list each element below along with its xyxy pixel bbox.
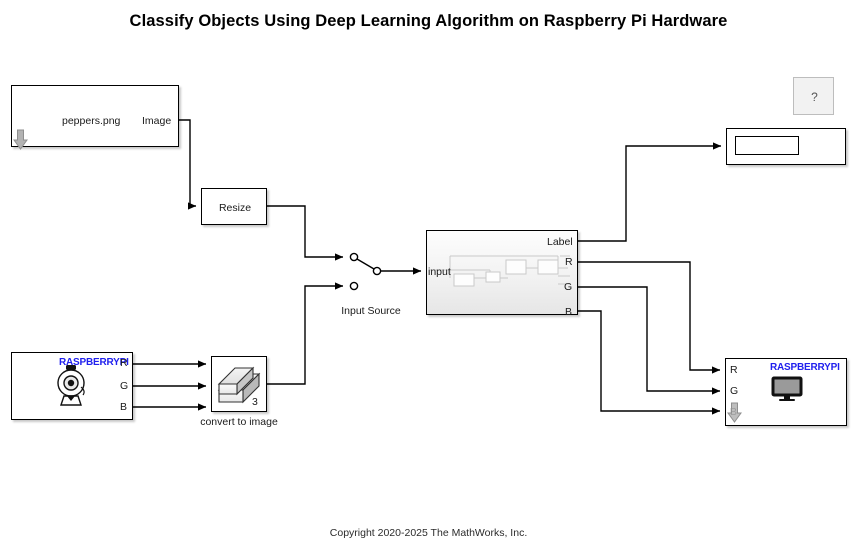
classify-output-b-port: B [565, 306, 572, 318]
resize-label: Resize [202, 189, 268, 226]
down-arrow-icon [13, 129, 28, 151]
manual-switch-icon[interactable] [350, 253, 380, 289]
classify-output-r-port: R [565, 256, 573, 268]
camera-output-b-port: B [120, 401, 127, 413]
classify-output-label-port: Label [547, 236, 573, 248]
sdl-input-r-port: R [730, 364, 738, 376]
image-source-filename-label: peppers.png [62, 115, 120, 127]
image-source-output-port-label: Image [142, 115, 171, 127]
question-mark-icon: ? [794, 78, 835, 116]
webcam-icon [48, 363, 94, 409]
classify-output-g-port: G [564, 281, 572, 293]
camera-output-r-port: R [120, 357, 128, 369]
convert-to-image-caption: convert to image [188, 416, 290, 428]
sdl-input-g-port: G [730, 385, 738, 397]
classify-input-port-label: input [428, 266, 451, 278]
input-source-caption: Input Source [330, 305, 412, 317]
sdl-hardware-label: RASPBERRYPI [770, 362, 840, 373]
page-title: Classify Objects Using Deep Learning Alg… [0, 12, 857, 31]
block-resize[interactable]: Resize [201, 188, 267, 225]
display-value-field [735, 136, 799, 155]
down-arrow-icon [727, 402, 742, 424]
convert-dimension-label: 3 [252, 396, 258, 408]
block-help[interactable]: ? [793, 77, 834, 115]
copyright-text: Copyright 2020-2025 The MathWorks, Inc. [0, 527, 857, 539]
block-display[interactable] [726, 128, 846, 165]
camera-output-g-port: G [120, 380, 128, 392]
monitor-icon [771, 376, 803, 402]
